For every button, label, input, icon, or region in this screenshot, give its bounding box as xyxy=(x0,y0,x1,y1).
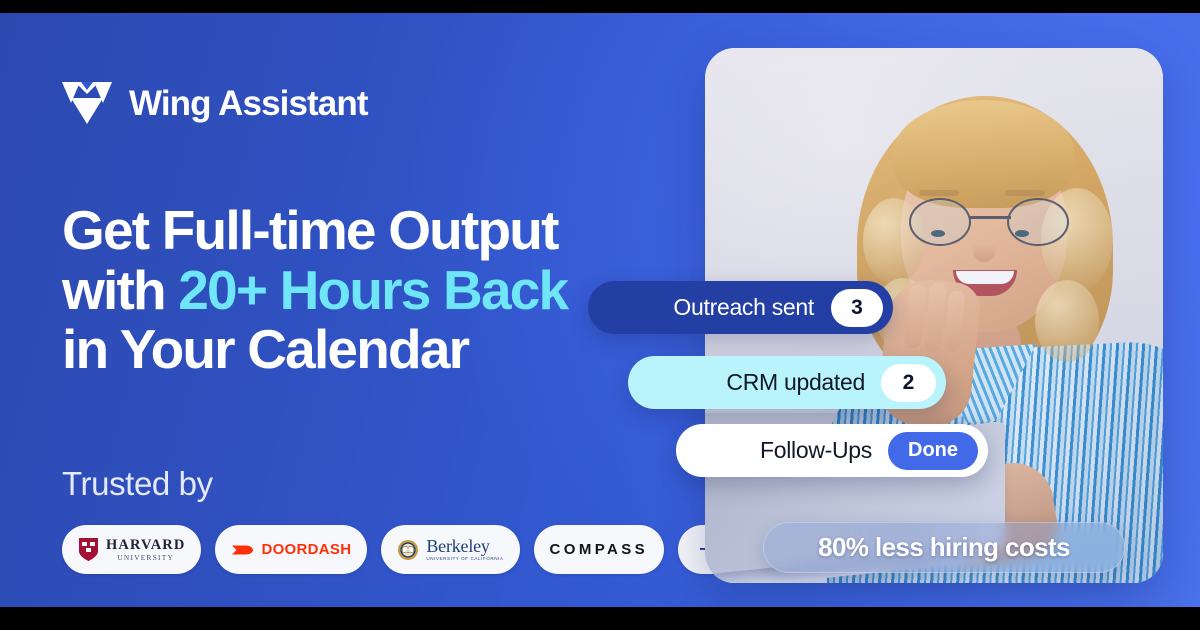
letterbox-bar-top xyxy=(0,0,1200,13)
hero-stage: Wing Assistant Get Full-time Output with… xyxy=(0,13,1200,607)
page-title: Get Full-time Output with 20+ Hours Back… xyxy=(62,201,662,380)
stat-banner-hiring-costs: 80% less hiring costs xyxy=(763,522,1125,573)
harvard-subtext: UNIVERSITY xyxy=(117,554,174,561)
notification-crm-updated[interactable]: CRM updated 2 xyxy=(628,356,946,409)
wing-w-logomark-icon xyxy=(62,80,112,126)
notification-status-badge: Done xyxy=(888,432,978,470)
trusted-by-label: Trusted by xyxy=(62,465,213,503)
logo-pill-harvard[interactable]: HARVARD UNIVERSITY xyxy=(62,525,201,574)
notification-label: CRM updated xyxy=(726,369,865,396)
doordash-wordmark: DOORDASH xyxy=(261,541,351,558)
notification-label: Outreach sent xyxy=(673,294,814,321)
headline-line-1: Get Full-time Output xyxy=(62,199,558,261)
berkeley-subtext: UNIVERSITY OF CALIFORNIA xyxy=(426,557,503,562)
letterbox-bar-bottom xyxy=(0,607,1200,630)
berkeley-seal-icon xyxy=(397,539,419,561)
doordash-dash-icon xyxy=(231,542,254,558)
notification-follow-ups[interactable]: Follow-Ups Done xyxy=(676,424,988,477)
compass-wordmark: COMPASS xyxy=(550,541,649,558)
notification-label: Follow-Ups xyxy=(760,437,872,464)
trusted-logo-row: HARVARD UNIVERSITY DOORDASH xyxy=(62,525,735,574)
notification-badge: 2 xyxy=(881,364,936,402)
headline-line-2-prefix: with xyxy=(62,259,178,321)
brand-name: Wing Assistant xyxy=(129,86,368,121)
headline-accent: 20+ Hours Back xyxy=(178,259,567,321)
ad-creative-frame: Wing Assistant Get Full-time Output with… xyxy=(0,0,1200,630)
berkeley-wordmark: Berkeley xyxy=(426,537,503,555)
stat-banner-text: 80% less hiring costs xyxy=(818,532,1070,563)
brand-lockup[interactable]: Wing Assistant xyxy=(62,80,368,126)
notification-outreach-sent[interactable]: Outreach sent 3 xyxy=(588,281,893,334)
notification-badge: 3 xyxy=(831,289,883,327)
harvard-wordmark: HARVARD xyxy=(106,538,185,553)
logo-pill-berkeley[interactable]: Berkeley UNIVERSITY OF CALIFORNIA xyxy=(381,525,519,574)
logo-pill-compass[interactable]: COMPASS xyxy=(534,525,665,574)
harvard-shield-icon xyxy=(78,537,99,562)
headline-line-3: in Your Calendar xyxy=(62,318,468,380)
logo-pill-doordash[interactable]: DOORDASH xyxy=(215,525,367,574)
